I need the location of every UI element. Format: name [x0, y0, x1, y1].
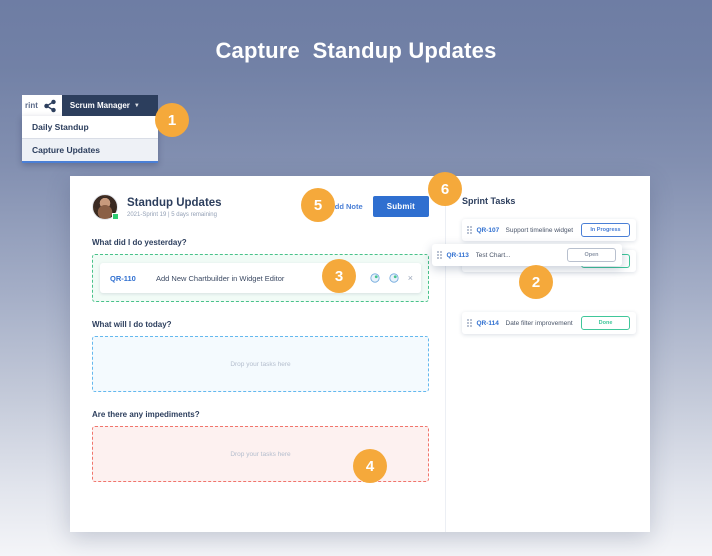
sprint-task-id: QR-114: [477, 320, 506, 327]
chevron-down-icon: ▼: [134, 103, 140, 109]
status-badge[interactable]: Open: [567, 248, 616, 262]
sprint-task-row[interactable]: QR-107 Support timeline widget In Progre…: [462, 219, 636, 241]
dropzone-yesterday[interactable]: QR-110 Add New Chartbuilder in Widget Ed…: [92, 254, 429, 302]
status-badge[interactable]: In Progress: [581, 223, 630, 237]
online-status-dot: [112, 213, 119, 220]
sprint-task-text: Test Chart...: [476, 252, 568, 259]
section-today: What will I do today? Drop your tasks he…: [92, 320, 429, 392]
print-label[interactable]: rint: [24, 101, 42, 110]
step-badge-4: 4: [353, 449, 387, 483]
page-title: Capture Standup Updates: [0, 38, 712, 64]
section-yesterday: What did I do yesterday? QR-110 Add New …: [92, 238, 429, 302]
dropzone-placeholder-impediments: Drop your tasks here: [230, 451, 290, 458]
scrum-manager-label: Scrum Manager: [70, 101, 130, 110]
step-badge-6: 6: [428, 172, 462, 206]
share-icon[interactable]: [42, 99, 58, 113]
sprint-task-id: QR-113: [447, 252, 476, 259]
standup-heading-text: Standup Updates 2021-Sprint 19 | 5 days …: [127, 196, 222, 218]
scrum-manager-button[interactable]: Scrum Manager ▼: [62, 95, 158, 116]
menu-toolbar: rint Scrum Manager ▼: [22, 95, 158, 116]
status-badge[interactable]: Done: [581, 316, 630, 330]
drag-handle-icon[interactable]: [467, 226, 472, 234]
task-chip[interactable]: QR-110 Add New Chartbuilder in Widget Ed…: [100, 263, 421, 293]
standup-subtitle: 2021-Sprint 19 | 5 days remaining: [127, 212, 222, 218]
sprint-task-text: Date filter improvement: [506, 320, 582, 327]
submit-button[interactable]: Submit: [373, 196, 429, 217]
sprint-tasks-title: Sprint Tasks: [462, 196, 636, 206]
close-icon[interactable]: ×: [408, 274, 413, 283]
dropzone-placeholder-today: Drop your tasks here: [230, 361, 290, 368]
sprint-tasks-pane: Sprint Tasks QR-107 Support timeline wid…: [445, 176, 650, 532]
step-badge-1: 1: [155, 103, 189, 137]
drag-handle-icon[interactable]: [467, 319, 472, 327]
comment-icon[interactable]: [370, 273, 380, 283]
avatar[interactable]: [92, 194, 118, 220]
dropzone-today[interactable]: Drop your tasks here: [92, 336, 429, 392]
step-badge-3: 3: [322, 259, 356, 293]
section-label-today: What will I do today?: [92, 320, 429, 329]
standup-title: Standup Updates: [127, 196, 222, 210]
menu-item-capture-updates[interactable]: Capture Updates: [22, 139, 158, 163]
sprint-task-id: QR-107: [477, 227, 506, 234]
sprint-task-row-dragging[interactable]: QR-113 Test Chart... Open: [432, 244, 622, 266]
standup-form-pane: Standup Updates 2021-Sprint 19 | 5 days …: [70, 176, 445, 532]
task-chip-id: QR-110: [110, 274, 156, 283]
scrum-manager-menu: rint Scrum Manager ▼ Daily Standup Captu…: [22, 95, 158, 163]
attachment-icon[interactable]: [389, 273, 399, 283]
section-label-impediments: Are there any impediments?: [92, 410, 429, 419]
sprint-task-text: Support timeline widget: [506, 227, 582, 234]
menu-item-daily-standup[interactable]: Daily Standup: [22, 116, 158, 139]
menu-list: Daily Standup Capture Updates: [22, 116, 158, 163]
step-badge-2: 2: [519, 265, 553, 299]
section-label-yesterday: What did I do yesterday?: [92, 238, 429, 247]
step-badge-5: 5: [301, 188, 335, 222]
task-chip-actions: ×: [370, 273, 413, 283]
drag-handle-icon[interactable]: [437, 251, 442, 259]
sprint-task-row[interactable]: QR-114 Date filter improvement Done: [462, 312, 636, 334]
